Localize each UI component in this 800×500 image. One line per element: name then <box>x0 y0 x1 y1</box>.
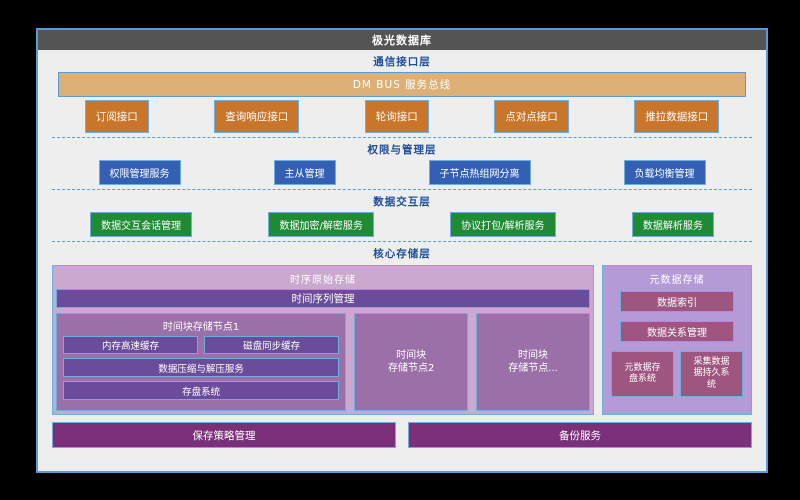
backup-service-bar[interactable]: 备份服务 <box>408 422 752 448</box>
metadata-collect-system-box[interactable]: 采集数据 据持久系 统 <box>680 351 743 397</box>
timeseries-storage-title: 时序原始存储 <box>56 269 590 289</box>
auth-load-balance[interactable]: 负载均衡管理 <box>624 160 706 185</box>
interface-subscribe[interactable]: 订阅接口 <box>85 100 149 133</box>
retention-policy-bar[interactable]: 保存策略管理 <box>52 422 396 448</box>
time-block-node-1-title: 时间块存储节点1 <box>63 317 339 336</box>
timeseries-raw-storage: 时序原始存储 时间序列管理 时间块存储节点1 内存高速缓存 磁盘同步缓存 数据压… <box>52 265 594 415</box>
layer-label-comm: 通信接口层 <box>38 54 766 69</box>
page-title: 极光数据库 <box>372 32 432 48</box>
memory-cache-box[interactable]: 内存高速缓存 <box>63 336 198 354</box>
storage-nodes-row: 时间块存储节点1 内存高速缓存 磁盘同步缓存 数据压缩与解压服务 存盘系统 时间… <box>56 313 590 411</box>
interface-push-pull[interactable]: 推拉数据接口 <box>634 100 719 133</box>
exchange-parse-service[interactable]: 数据解析服务 <box>632 212 714 237</box>
auth-row: 权限管理服务 主从管理 子节点热组网分离 负载均衡管理 <box>38 160 766 185</box>
time-block-node-1[interactable]: 时间块存储节点1 内存高速缓存 磁盘同步缓存 数据压缩与解压服务 存盘系统 <box>56 313 346 411</box>
separator-comm-auth <box>52 137 752 138</box>
interface-p2p[interactable]: 点对点接口 <box>494 100 569 133</box>
auth-permission-service[interactable]: 权限管理服务 <box>99 160 181 185</box>
layer-label-core: 核心存储层 <box>38 246 766 261</box>
layer-label-exchange: 数据交互层 <box>38 194 766 209</box>
node-1-cache-pair: 内存高速缓存 磁盘同步缓存 <box>63 336 339 354</box>
architecture-panel: 极光数据库 通信接口层 DM BUS 服务总线 订阅接口 查询响应接口 轮询接口… <box>36 28 768 473</box>
separator-exchange-core <box>52 241 752 242</box>
metadata-storage-title: 元数据存储 <box>611 269 743 291</box>
diagram-body: 通信接口层 DM BUS 服务总线 订阅接口 查询响应接口 轮询接口 点对点接口… <box>38 54 766 448</box>
metadata-relation-box[interactable]: 数据关系管理 <box>620 321 734 342</box>
dm-bus-bar[interactable]: DM BUS 服务总线 <box>58 72 746 97</box>
disk-sync-cache-box[interactable]: 磁盘同步缓存 <box>204 336 339 354</box>
layer-label-auth: 权限与管理层 <box>38 142 766 157</box>
disk-persistence-box[interactable]: 存盘系统 <box>63 381 339 400</box>
interface-row: 订阅接口 查询响应接口 轮询接口 点对点接口 推拉数据接口 <box>38 100 766 133</box>
core-storage-wrapper: 时序原始存储 时间序列管理 时间块存储节点1 内存高速缓存 磁盘同步缓存 数据压… <box>38 265 766 415</box>
timeseries-manager-bar[interactable]: 时间序列管理 <box>56 289 590 308</box>
exchange-encryption-service[interactable]: 数据加密/解密服务 <box>268 212 373 237</box>
separator-auth-exchange <box>52 189 752 190</box>
compression-service-box[interactable]: 数据压缩与解压服务 <box>63 358 339 377</box>
bus-wrapper: DM BUS 服务总线 <box>38 72 766 97</box>
auth-subnode-isolation[interactable]: 子节点热组网分离 <box>429 160 531 185</box>
time-block-node-2[interactable]: 时间块 存储节点2 <box>354 313 468 411</box>
interface-query-response[interactable]: 查询响应接口 <box>214 100 299 133</box>
window-title-bar: 极光数据库 <box>38 30 766 50</box>
metadata-bottom-pair: 元数据存 盘系统 采集数据 据持久系 统 <box>611 351 743 397</box>
diagram-root: 极光数据库 通信接口层 DM BUS 服务总线 订阅接口 查询响应接口 轮询接口… <box>0 0 800 500</box>
metadata-index-box[interactable]: 数据索引 <box>620 291 734 312</box>
metadata-storage: 元数据存储 数据索引 数据关系管理 元数据存 盘系统 采集数据 据持久系 统 <box>602 265 752 415</box>
core-bottom-row: 保存策略管理 备份服务 <box>38 422 766 448</box>
interface-polling[interactable]: 轮询接口 <box>365 100 429 133</box>
metadata-disk-system-box[interactable]: 元数据存 盘系统 <box>611 351 674 397</box>
exchange-protocol-service[interactable]: 协议打包/解析服务 <box>450 212 555 237</box>
auth-master-slave[interactable]: 主从管理 <box>274 160 336 185</box>
exchange-row: 数据交互会话管理 数据加密/解密服务 协议打包/解析服务 数据解析服务 <box>38 212 766 237</box>
exchange-session-management[interactable]: 数据交互会话管理 <box>90 212 192 237</box>
time-block-node-more[interactable]: 时间块 存储节点... <box>476 313 590 411</box>
